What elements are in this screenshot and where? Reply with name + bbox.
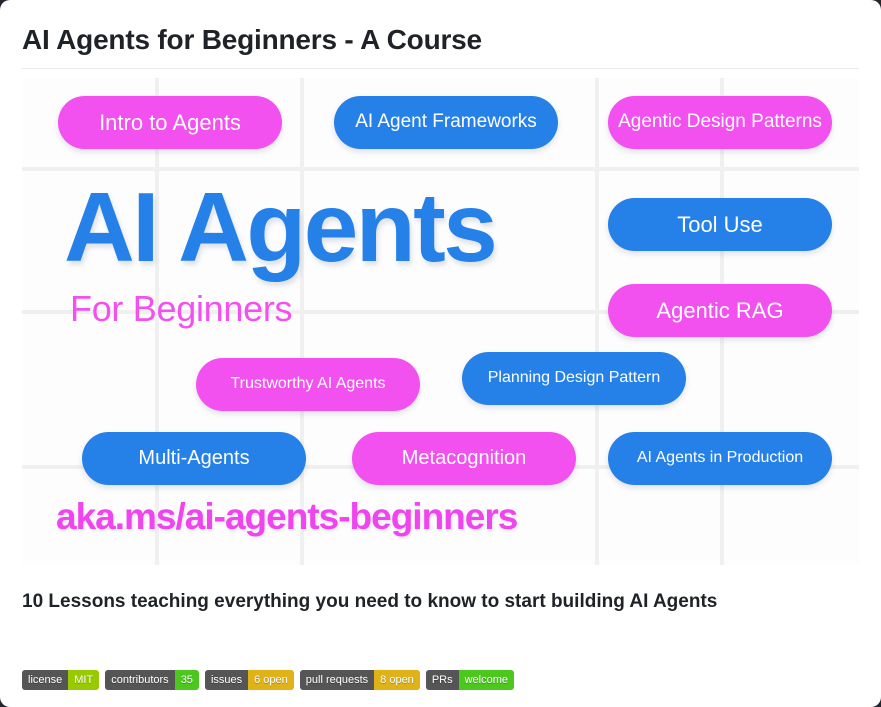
topic-pill[interactable]: AI Agents in Production bbox=[608, 432, 832, 485]
status-badge-label: pull requests bbox=[300, 670, 374, 690]
hero-subtitle: For Beginners bbox=[70, 288, 292, 330]
topic-pill[interactable]: Tool Use bbox=[608, 198, 832, 251]
gridline-horizontal bbox=[22, 167, 859, 171]
topic-pill-label: AI Agents in Production bbox=[637, 449, 803, 468]
status-badge[interactable]: issues6 open bbox=[205, 670, 294, 690]
status-badge[interactable]: pull requests8 open bbox=[300, 670, 420, 690]
topic-pill-label: Agentic Design Patterns bbox=[618, 111, 822, 133]
topic-pill[interactable]: Multi-Agents bbox=[82, 432, 306, 485]
status-badge-value: 8 open bbox=[374, 670, 420, 690]
course-hero-graphic: AI Agents For Beginners Intro to AgentsA… bbox=[22, 78, 859, 565]
hero-wordmark: AI Agents bbox=[64, 178, 495, 276]
topic-pill-label: AI Agent Frameworks bbox=[355, 111, 537, 133]
topic-pill[interactable]: Agentic Design Patterns bbox=[608, 96, 832, 149]
topic-pill-label: Multi-Agents bbox=[138, 447, 249, 471]
topic-pill[interactable]: Intro to Agents bbox=[58, 96, 282, 149]
topic-pill-label: Tool Use bbox=[677, 212, 763, 238]
status-badge[interactable]: PRswelcome bbox=[426, 670, 514, 690]
topic-pill-label: Planning Design Pattern bbox=[488, 369, 661, 388]
topic-pill[interactable]: AI Agent Frameworks bbox=[334, 96, 558, 149]
topic-pill[interactable]: Agentic RAG bbox=[608, 284, 832, 337]
topic-pill-label: Intro to Agents bbox=[99, 110, 241, 136]
status-badge[interactable]: contributors35 bbox=[105, 670, 199, 690]
status-badge-value: 35 bbox=[175, 670, 199, 690]
hero-course-url: aka.ms/ai-agents-beginners bbox=[56, 496, 517, 538]
topic-pill-label: Trustworthy AI Agents bbox=[230, 375, 385, 394]
status-badge-label: issues bbox=[205, 670, 248, 690]
gridline-vertical bbox=[595, 78, 599, 565]
course-description: 10 Lessons teaching everything you need … bbox=[22, 588, 812, 616]
status-badge-label: license bbox=[22, 670, 68, 690]
status-badge-value: 6 open bbox=[248, 670, 294, 690]
status-badge-label: PRs bbox=[426, 670, 459, 690]
topic-pill-label: Metacognition bbox=[402, 447, 527, 471]
topic-pill[interactable]: Planning Design Pattern bbox=[462, 352, 686, 405]
title-divider bbox=[22, 68, 859, 69]
topic-pill[interactable]: Trustworthy AI Agents bbox=[196, 358, 420, 411]
status-badge-value: welcome bbox=[459, 670, 514, 690]
status-badge-value: MIT bbox=[68, 670, 99, 690]
status-badge[interactable]: licenseMIT bbox=[22, 670, 99, 690]
readme-card: AI Agents for Beginners - A Course AI Ag… bbox=[0, 0, 881, 707]
badge-row: licenseMITcontributors35issues6 openpull… bbox=[22, 670, 514, 690]
topic-pill-label: Agentic RAG bbox=[656, 298, 783, 324]
status-badge-label: contributors bbox=[105, 670, 174, 690]
page-title: AI Agents for Beginners - A Course bbox=[22, 24, 482, 56]
topic-pill[interactable]: Metacognition bbox=[352, 432, 576, 485]
gridline-vertical bbox=[300, 78, 304, 565]
